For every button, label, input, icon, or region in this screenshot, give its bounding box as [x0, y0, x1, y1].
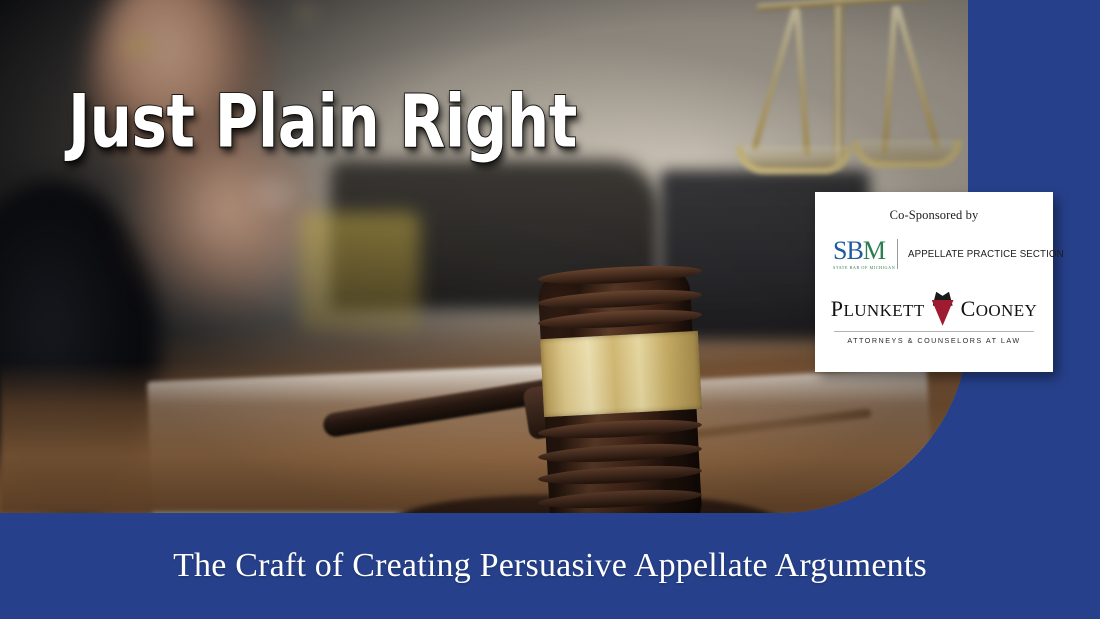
sbm-logo-row: SBM State Bar of Michigan APPELLATE PRAC…	[829, 239, 1039, 270]
diamond-crest-icon	[930, 292, 956, 326]
slide-subtitle: The Craft of Creating Persuasive Appella…	[173, 547, 927, 585]
subtitle-banner: The Craft of Creating Persuasive Appella…	[0, 513, 1100, 619]
sponsor-card: Co-Sponsored by SBM State Bar of Michiga…	[815, 192, 1053, 372]
horizontal-rule	[834, 331, 1034, 332]
plunkett-cooney-logo: PLUNKETT COONEY ATTORNEYS & COUNSELORS A…	[829, 292, 1039, 345]
presentation-slide: Just Plain Right Co-Sponsored by SBM Sta…	[0, 0, 1100, 619]
crest-diamond	[932, 300, 954, 326]
vertical-divider	[897, 239, 898, 269]
plunkett-initial: P	[831, 296, 844, 321]
sbm-letter-m: M	[863, 236, 885, 265]
sbm-letters: SBM	[833, 239, 895, 264]
sbm-letter-b: B	[846, 236, 862, 265]
plunkett-cooney-tagline: ATTORNEYS & COUNSELORS AT LAW	[847, 336, 1020, 345]
sbm-letter-s: S	[833, 236, 846, 265]
plunkett-rest: LUNKETT	[843, 301, 924, 320]
cooney-initial: C	[961, 296, 976, 321]
plunkett-word: PLUNKETT	[831, 298, 925, 320]
plunkett-cooney-wordmark: PLUNKETT COONEY	[829, 292, 1039, 326]
co-sponsored-by-label: Co-Sponsored by	[890, 208, 979, 223]
cooney-rest: OONEY	[976, 301, 1038, 320]
appellate-practice-section-label: APPELLATE PRACTICE SECTION	[908, 249, 1064, 260]
sbm-logo: SBM State Bar of Michigan	[833, 239, 895, 270]
page-title: Just Plain Right	[68, 85, 577, 158]
sbm-subtext: State Bar of Michigan	[833, 265, 895, 270]
cooney-word: COONEY	[961, 298, 1038, 320]
